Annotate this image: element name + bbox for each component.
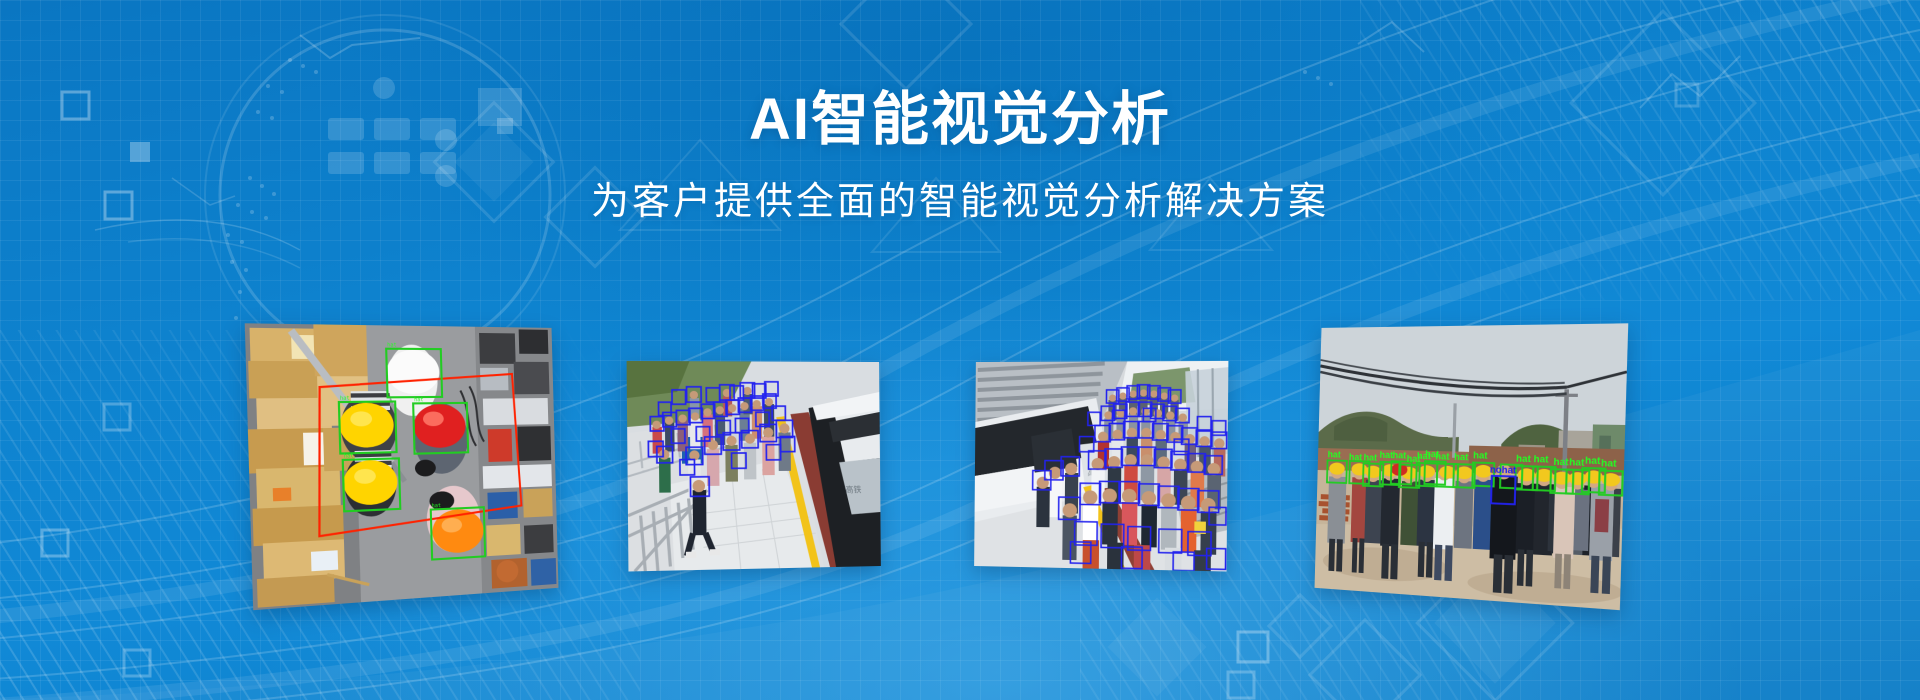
page-title: AI智能视觉分析 xyxy=(0,88,1920,152)
svg-text:hat: hat xyxy=(414,397,424,403)
svg-text:hat: hat xyxy=(340,396,350,402)
svg-text:hat: hat xyxy=(1349,452,1363,463)
ai-vision-banner: AI智能视觉分析 为客户提供全面的智能视觉分析解决方案 xyxy=(0,0,1920,700)
svg-text:高铁: 高铁 xyxy=(845,484,861,494)
svg-text:hat: hat xyxy=(1392,450,1406,461)
gallery-card-helmet-construction[interactable]: hathathat hathathat hathathat hathathat … xyxy=(1315,323,1629,610)
gallery-card-crowd-platform-a[interactable]: 高铁 xyxy=(627,361,881,572)
svg-text:hat: hat xyxy=(1328,449,1341,460)
svg-text:hat: hat xyxy=(1425,449,1439,460)
svg-text:hat: hat xyxy=(1585,455,1601,467)
gallery-strip: hat hat hat hat hat xyxy=(0,300,1920,630)
svg-text:hat: hat xyxy=(432,503,442,509)
svg-text:hat: hat xyxy=(1379,449,1393,460)
svg-text:hat: hat xyxy=(1533,453,1548,464)
banner-text-block: AI智能视觉分析 为客户提供全面的智能视觉分析解决方案 xyxy=(0,88,1920,225)
svg-text:hat: hat xyxy=(1553,456,1569,467)
photo-railway-platform: 高铁 xyxy=(627,361,881,572)
svg-text:hat: hat xyxy=(1473,450,1488,461)
photo-warehouse-overhead: hat hat hat hat hat xyxy=(245,323,559,610)
svg-text:nohat: nohat xyxy=(1490,464,1517,476)
svg-text:hat: hat xyxy=(344,453,354,460)
svg-text:hat: hat xyxy=(1454,451,1469,462)
page-subtitle: 为客户提供全面的智能视觉分析解决方案 xyxy=(0,180,1920,226)
svg-text:hat: hat xyxy=(387,342,397,348)
card-frame: hat hat hat hat hat xyxy=(245,323,559,610)
photo-construction-site: hathathat hathathat hathathat hathathat … xyxy=(1315,323,1629,610)
svg-text:hat: hat xyxy=(1601,457,1617,469)
card-frame: 高铁 xyxy=(974,361,1228,572)
gallery-card-helmet-warehouse[interactable]: hat hat hat hat hat xyxy=(245,323,559,610)
svg-text:hat: hat xyxy=(1364,452,1378,463)
photo-platform-dense-crowd: 高铁 xyxy=(974,361,1228,572)
card-frame: 高铁 xyxy=(627,361,881,572)
gallery-card-crowd-platform-b[interactable]: 高铁 xyxy=(974,361,1228,572)
svg-text:hat: hat xyxy=(1569,456,1585,468)
svg-text:hat: hat xyxy=(1516,453,1531,464)
card-frame: hathathat hathathat hathathat hathathat … xyxy=(1315,323,1629,610)
